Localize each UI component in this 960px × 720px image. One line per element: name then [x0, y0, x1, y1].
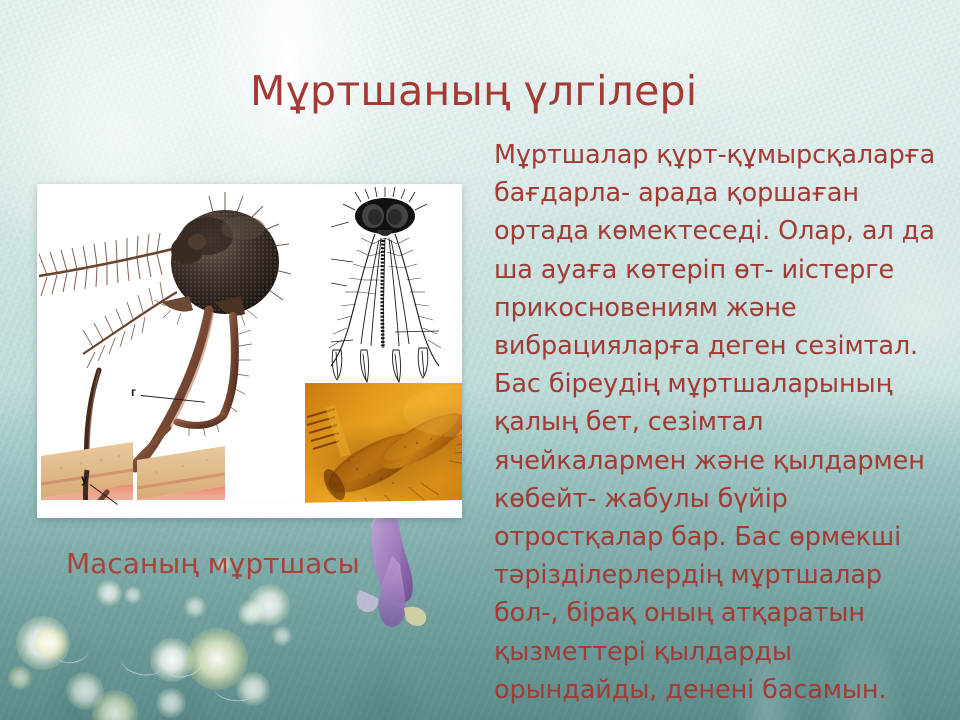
figure-label-g: г	[131, 385, 136, 399]
figure-label-u: у	[81, 472, 88, 486]
presentation-slide: Мұртшаның үлгілері Мұртшалар құрт-құмырс…	[0, 0, 960, 720]
mosquito-figure-card: г у щ х нг	[37, 184, 462, 518]
body-paragraph: Мұртшалар құрт-құмырсқаларға бағдарла- а…	[494, 136, 946, 709]
antenna-micrograph-photo	[305, 383, 462, 516]
figure-caption: Масаның мұртшасы	[66, 547, 360, 580]
mosquito-line-drawing	[309, 186, 461, 391]
mosquito-head-photo	[37, 184, 309, 500]
drawing-label-ng: нг	[443, 516, 451, 518]
figure-label-sh: щ	[183, 502, 193, 516]
page-title: Мұртшаның үлгілері	[250, 68, 870, 115]
